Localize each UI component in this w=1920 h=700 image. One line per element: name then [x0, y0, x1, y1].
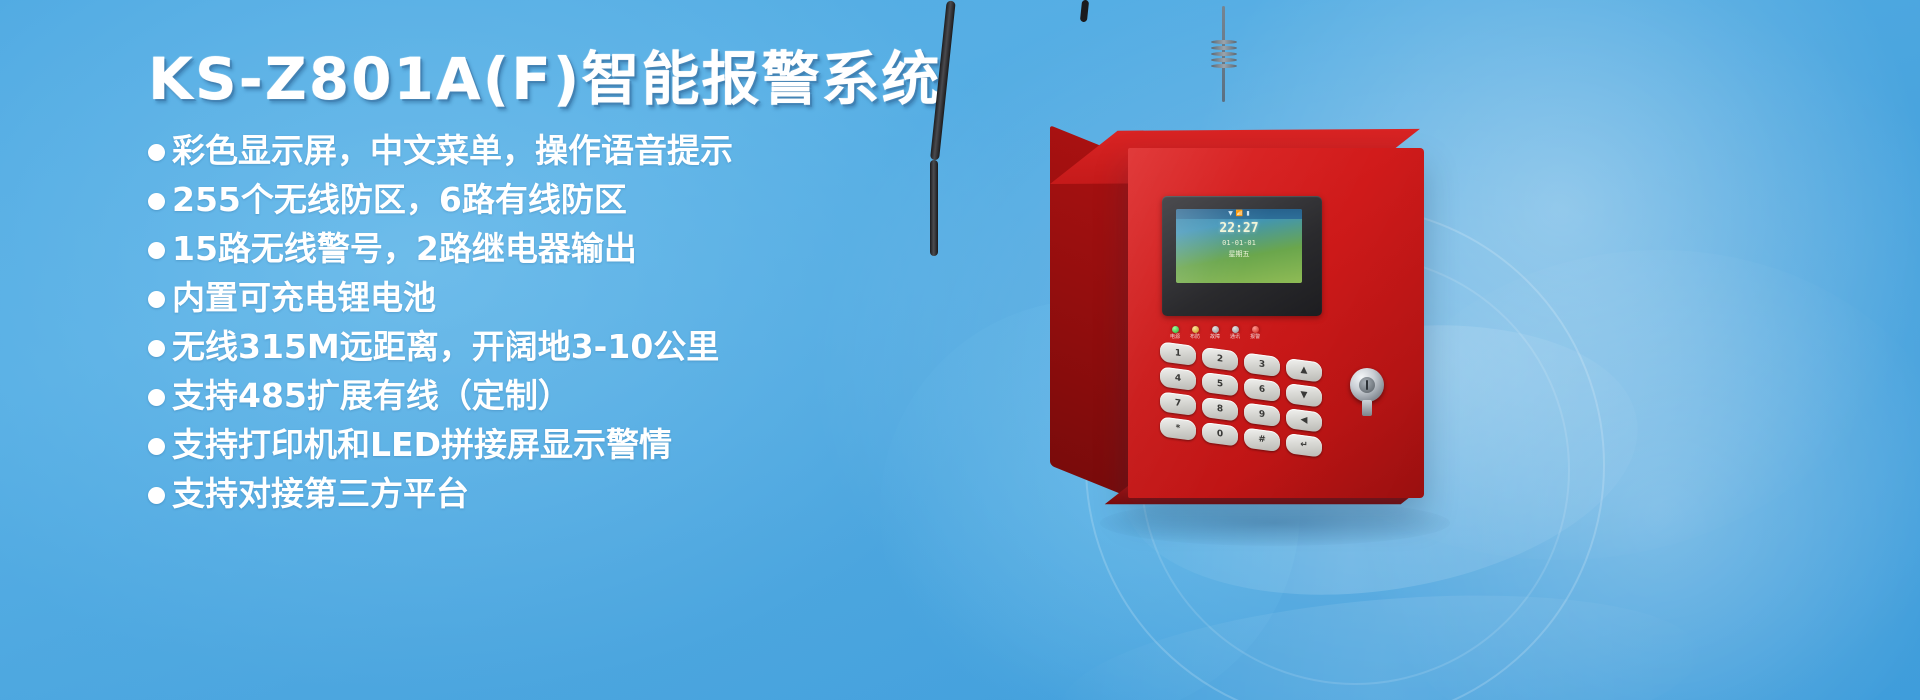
- antenna-left-icon: [930, 0, 956, 160]
- keypad-key[interactable]: ▲: [1286, 358, 1322, 383]
- feature-item: 内置可充电锂电池: [148, 281, 968, 314]
- indicator-comm: 通讯: [1230, 326, 1240, 340]
- bullet-icon: [148, 193, 165, 210]
- bullet-icon: [148, 487, 165, 504]
- feature-text: 支持对接第三方平台: [172, 477, 469, 510]
- feature-text: 内置可充电锂电池: [172, 281, 436, 314]
- fault-led-icon: [1212, 326, 1219, 333]
- indicator-label: 报警: [1250, 335, 1260, 340]
- feature-text: 彩色显示屏，中文菜单，操作语音提示: [172, 134, 733, 167]
- indicator-fault: 故障: [1210, 326, 1220, 340]
- arm-led-icon: [1192, 326, 1199, 333]
- bullet-icon: [148, 144, 165, 161]
- indicator-label: 故障: [1210, 335, 1220, 340]
- keypad-key[interactable]: 4: [1160, 366, 1196, 391]
- bullet-icon: [148, 340, 165, 357]
- bullet-icon: [148, 242, 165, 259]
- feature-text: 支持485扩展有线（定制）: [172, 379, 571, 412]
- feature-item: 无线315M远距离，开阔地3-10公里: [148, 330, 968, 363]
- indicator-power: 电源: [1170, 326, 1180, 340]
- indicator-arm: 布防: [1190, 326, 1200, 340]
- antenna-left-tip: [1080, 0, 1089, 22]
- feature-text: 15路无线警号，2路继电器输出: [172, 232, 637, 265]
- keypad-key[interactable]: ▼: [1286, 383, 1322, 408]
- feature-item: 255个无线防区，6路有线防区: [148, 183, 968, 216]
- product-title: KS-Z801A(F)智能报警系统: [148, 48, 968, 112]
- alarm-panel-device: ▼ 📶 ▮ 22:27 01-01-01 星期五 电源 布防 故障: [930, 0, 1490, 700]
- feature-item: 彩色显示屏，中文菜单，操作语音提示: [148, 134, 968, 167]
- bullet-icon: [148, 438, 165, 455]
- keylock-icon[interactable]: [1350, 368, 1384, 402]
- lcd-glare: [1176, 209, 1302, 283]
- keypad-key[interactable]: 3: [1244, 352, 1280, 377]
- power-led-icon: [1172, 326, 1179, 333]
- feature-item: 15路无线警号，2路继电器输出: [148, 232, 968, 265]
- device-shadow: [1100, 500, 1450, 546]
- antenna-right-icon: [930, 160, 938, 256]
- status-indicator-row: 电源 布防 故障 通讯 报警: [1166, 322, 1318, 344]
- alarm-led-icon: [1252, 326, 1259, 333]
- indicator-alarm: 报警: [1250, 326, 1260, 340]
- bullet-icon: [148, 291, 165, 308]
- keypad-key[interactable]: 2: [1202, 347, 1238, 372]
- promo-banner: KS-Z801A(F)智能报警系统 彩色显示屏，中文菜单，操作语音提示 255个…: [0, 0, 1920, 700]
- keypad-key[interactable]: 8: [1202, 397, 1238, 422]
- indicator-label: 通讯: [1230, 335, 1240, 340]
- feature-text: 支持打印机和LED拼接屏显示警情: [172, 428, 672, 461]
- bullet-icon: [148, 389, 165, 406]
- keypad-key[interactable]: 5: [1202, 372, 1238, 397]
- feature-item: 支持485扩展有线（定制）: [148, 379, 968, 412]
- keypad-key[interactable]: 7: [1160, 391, 1196, 416]
- lcd-screen[interactable]: ▼ 📶 ▮ 22:27 01-01-01 星期五: [1176, 209, 1302, 283]
- feature-list: 彩色显示屏，中文菜单，操作语音提示 255个无线防区，6路有线防区 15路无线警…: [148, 134, 968, 510]
- keypad-key[interactable]: 1: [1160, 341, 1196, 366]
- keypad-key[interactable]: ◀: [1286, 408, 1322, 433]
- comm-led-icon: [1232, 326, 1239, 333]
- feature-item: 支持打印机和LED拼接屏显示警情: [148, 428, 968, 461]
- display-bezel: ▼ 📶 ▮ 22:27 01-01-01 星期五: [1162, 196, 1322, 316]
- feature-text: 255个无线防区，6路有线防区: [172, 183, 627, 216]
- keylock-tab: [1362, 400, 1372, 416]
- keylock-core: [1359, 377, 1375, 393]
- copy-block: KS-Z801A(F)智能报警系统 彩色显示屏，中文菜单，操作语音提示 255个…: [148, 48, 968, 526]
- feature-text: 无线315M远距离，开阔地3-10公里: [172, 330, 719, 363]
- keypad-key[interactable]: 6: [1244, 377, 1280, 402]
- keypad-key[interactable]: 9: [1244, 402, 1280, 427]
- indicator-label: 电源: [1170, 335, 1180, 340]
- antenna-coil-icon: [1211, 40, 1237, 74]
- indicator-label: 布防: [1190, 335, 1200, 340]
- feature-item: 支持对接第三方平台: [148, 477, 968, 510]
